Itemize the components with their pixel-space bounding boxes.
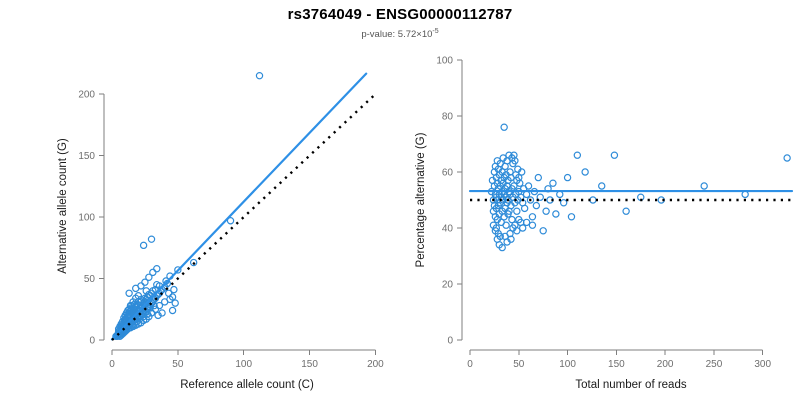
data-point <box>522 205 528 211</box>
figure-container: rs3764049 - ENSG00000112787 p-value: 5.7… <box>0 0 800 400</box>
y-axis-tick-label: 60 <box>442 168 454 179</box>
y-axis-tick-label: 0 <box>447 336 453 347</box>
data-point <box>701 183 707 189</box>
data-point <box>564 175 570 181</box>
x-axis-tick-label: 300 <box>754 359 771 370</box>
y-axis-tick-label: 0 <box>89 336 95 347</box>
scatter-plot-right: 020406080100050100150200250300Total numb… <box>400 0 800 400</box>
data-point-group <box>488 124 790 251</box>
data-point <box>550 180 556 186</box>
y-axis-tick-label: 20 <box>442 280 454 291</box>
data-point <box>148 236 154 242</box>
data-point <box>529 214 535 220</box>
x-axis-title: Total number of reads <box>575 379 686 391</box>
y-axis-tick-label: 40 <box>442 224 454 235</box>
x-axis-tick-label: 150 <box>301 359 318 370</box>
data-point <box>520 225 526 231</box>
data-point <box>141 242 147 248</box>
data-point <box>582 169 588 175</box>
data-point <box>543 208 549 214</box>
x-axis-tick-label: 150 <box>608 359 625 370</box>
data-point <box>525 183 531 189</box>
x-axis-tick-label: 250 <box>706 359 723 370</box>
x-axis-tick-label: 100 <box>235 359 252 370</box>
data-point <box>784 155 790 161</box>
data-point <box>540 228 546 234</box>
data-point <box>574 152 580 158</box>
data-point <box>154 266 160 272</box>
y-axis-tick-label: 100 <box>436 56 453 67</box>
data-point <box>126 290 132 296</box>
data-point <box>590 197 596 203</box>
data-point <box>535 175 541 181</box>
y-axis-tick-label: 150 <box>78 151 95 162</box>
data-point <box>256 73 262 79</box>
x-axis-tick-label: 200 <box>657 359 674 370</box>
x-axis-title: Reference allele count (C) <box>180 379 314 391</box>
y-axis-tick-label: 80 <box>442 112 454 123</box>
x-axis-tick-label: 200 <box>367 359 384 370</box>
data-point <box>611 152 617 158</box>
data-point <box>553 211 559 217</box>
data-point <box>138 283 144 289</box>
x-axis-tick-label: 50 <box>513 359 525 370</box>
x-axis-tick-label: 50 <box>172 359 184 370</box>
data-point <box>503 222 509 228</box>
data-point <box>568 214 574 220</box>
panel-reference-vs-alternative: 050100150200050100150200Reference allele… <box>0 0 400 400</box>
data-point <box>561 200 567 206</box>
data-point <box>501 124 507 130</box>
data-point <box>623 208 629 214</box>
data-point <box>742 191 748 197</box>
data-point <box>150 269 156 275</box>
data-point <box>533 203 539 209</box>
regression-line <box>112 74 366 340</box>
data-point <box>599 183 605 189</box>
y-axis-tick-label: 50 <box>84 274 96 285</box>
data-point <box>557 191 563 197</box>
y-axis-tick-label: 100 <box>78 213 95 224</box>
x-axis-tick-label: 0 <box>467 359 473 370</box>
y-axis-tick-label: 200 <box>78 90 95 101</box>
data-point <box>171 286 177 292</box>
data-point <box>172 300 178 306</box>
data-point <box>514 208 520 214</box>
panel-reads-vs-percentage: 020406080100050100150200250300Total numb… <box>400 0 800 400</box>
data-point <box>169 307 175 313</box>
data-point <box>529 222 535 228</box>
scatter-plot-left: 050100150200050100150200Reference allele… <box>0 0 400 400</box>
y-axis-title: Alternative allele count (G) <box>57 138 69 274</box>
data-point <box>523 191 529 197</box>
x-axis-tick-label: 0 <box>109 359 115 370</box>
y-axis-title: Percentage alternative (G) <box>415 132 427 267</box>
x-axis-tick-label: 100 <box>559 359 576 370</box>
